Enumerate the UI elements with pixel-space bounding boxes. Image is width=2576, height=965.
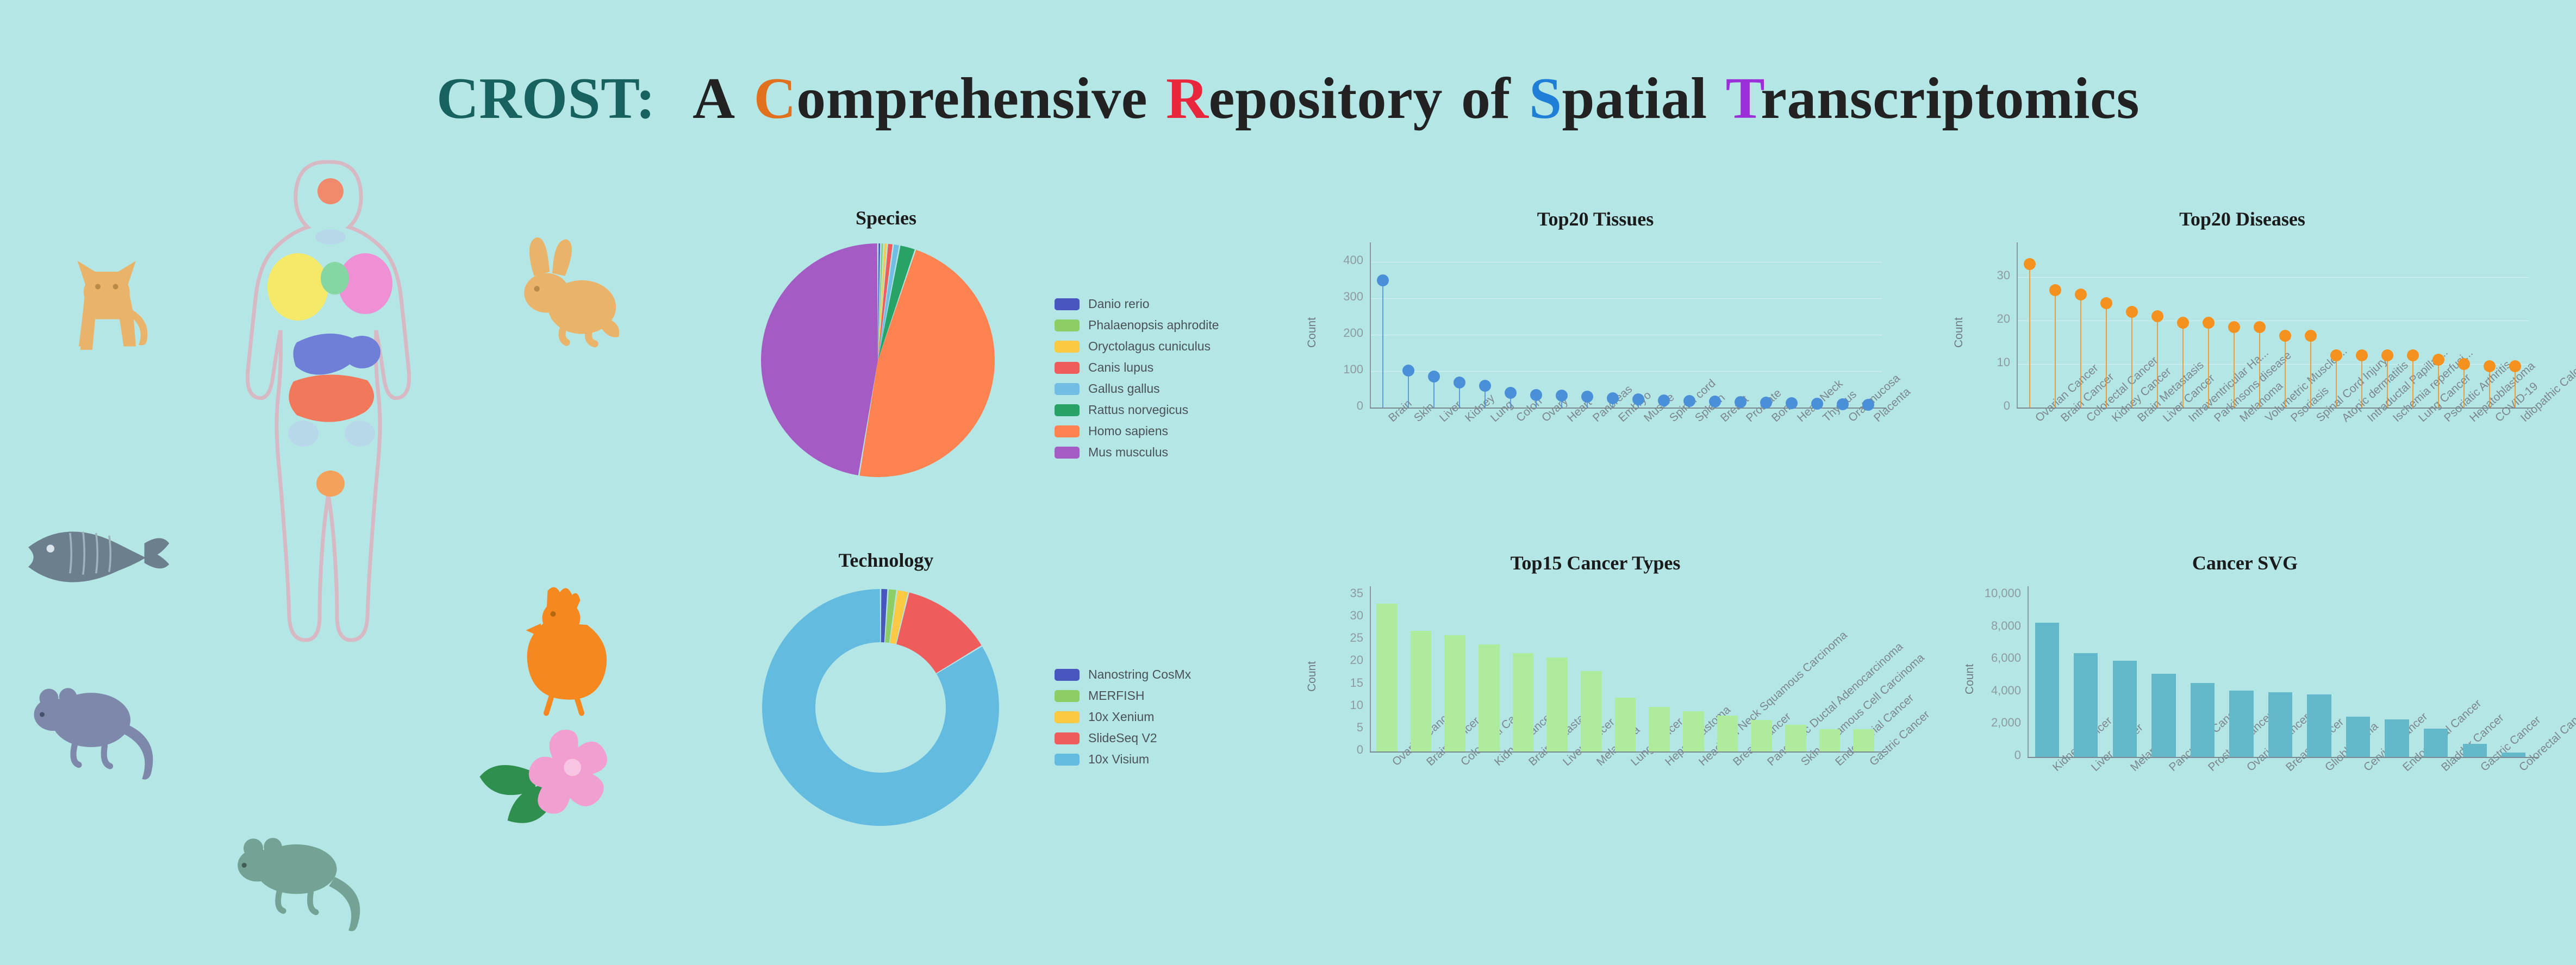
y-tick-label: 100 (1315, 362, 1363, 377)
legend-swatch-danio-rerio (1055, 298, 1080, 310)
tissues-lollipop-plot[interactable]: 0100200300400CountBrainSkinLiverKidneyLu… (1288, 239, 1903, 522)
legend-label: Homo sapiens (1088, 424, 1168, 438)
legend-label: Rattus norvegicus (1088, 403, 1188, 417)
y-tick-label: 0 (1973, 748, 2021, 762)
lollipop-dot[interactable] (2356, 349, 2368, 361)
legend-swatch-10x-visium (1055, 754, 1080, 766)
bar[interactable] (2463, 744, 2487, 757)
lollipop-dot[interactable] (1530, 389, 1542, 401)
species-legend: Danio rerio Phalaenopsis aphrodite Oryct… (1055, 297, 1219, 466)
bar[interactable] (1649, 707, 1670, 751)
lollipop-dot[interactable] (2203, 317, 2215, 329)
lollipop-dot[interactable] (2024, 258, 2036, 270)
title-brand: CROST (436, 66, 636, 131)
diseases-chart-title: Top20 Diseases (1935, 208, 2549, 230)
pie-slice-mus-musculus[interactable] (761, 243, 878, 475)
lollipop-stem (2361, 355, 2362, 408)
y-tick-label: 30 (1315, 609, 1363, 623)
bar[interactable] (2113, 661, 2137, 757)
technology-donut[interactable] (750, 581, 1033, 839)
legend-item[interactable]: 10x Xenium (1055, 710, 1191, 724)
y-tick-label: 0 (1315, 743, 1363, 757)
y-tick-label: 4,000 (1973, 684, 2021, 698)
chicken-icon (526, 587, 607, 713)
lollipop-dot[interactable] (2177, 317, 2189, 329)
y-tick-label: 30 (1962, 268, 2010, 283)
lollipop-stem (2182, 323, 2184, 408)
title-word-comprehensive: omprehensive (796, 66, 1147, 131)
legend-swatch-canis-lupus (1055, 362, 1080, 374)
lollipop-stem (2157, 316, 2158, 408)
lollipop-dot[interactable] (1837, 398, 1849, 410)
bar[interactable] (1444, 635, 1465, 751)
grid-line (1371, 335, 1882, 335)
lollipop-stem (2489, 366, 2490, 408)
lollipop-dot[interactable] (2509, 360, 2521, 372)
bar[interactable] (2502, 753, 2525, 757)
lollipop-stem (2310, 336, 2311, 408)
lollipop-stem (1382, 280, 1383, 408)
legend-item[interactable]: Canis lupus (1055, 360, 1219, 375)
pie-slice-homo-sapiens[interactable] (859, 250, 995, 477)
y-axis-line (2017, 242, 2018, 408)
y-tick-label: 400 (1315, 253, 1363, 267)
legend-swatch-mus-musculus (1055, 447, 1080, 459)
y-tick-label: 25 (1315, 631, 1363, 645)
y-tick-label: 10 (1962, 355, 2010, 369)
lollipop-stem (2515, 366, 2516, 408)
y-tick-label: 20 (1315, 653, 1363, 667)
legend-label: 10x Visium (1088, 752, 1149, 767)
lollipop-dot[interactable] (2151, 310, 2163, 322)
poster-root: CROST:AComprehensiveRepositoryofSpatialT… (0, 0, 2576, 965)
organ-stomach (344, 336, 381, 368)
lollipop-stem (2106, 303, 2107, 408)
title-colon: : (636, 66, 656, 131)
title-word-of: of (1461, 66, 1511, 131)
zebrafish-icon (28, 531, 169, 582)
y-axis-line (2028, 586, 2029, 757)
title-word-transcriptomics: ranscriptomics (1761, 66, 2140, 131)
title-letter-s: S (1529, 66, 1562, 131)
y-axis-title: Count (1963, 664, 1976, 694)
legend-item[interactable]: MERFISH (1055, 688, 1191, 703)
lollipop-dot[interactable] (2432, 354, 2444, 366)
human-body-icon (247, 162, 409, 640)
lollipop-stem (2387, 355, 2388, 408)
bar[interactable] (1785, 725, 1806, 751)
lollipop-dot[interactable] (2049, 284, 2061, 296)
legend-swatch-rattus-norvegicus (1055, 404, 1080, 416)
legend-item[interactable]: Homo sapiens (1055, 424, 1219, 438)
legend-swatch-homo-sapiens (1055, 425, 1080, 437)
lollipop-stem (2131, 312, 2132, 408)
rabbit-icon (524, 237, 619, 344)
title-word-a: A (693, 66, 735, 131)
bar[interactable] (1581, 671, 1602, 751)
y-tick-label: 5 (1315, 720, 1363, 735)
bar[interactable] (2307, 694, 2331, 757)
lollipop-dot[interactable] (1505, 387, 1517, 399)
lollipop-stem (2259, 327, 2260, 408)
y-tick-label: 300 (1315, 290, 1363, 304)
technology-chart-title: Technology (641, 549, 1131, 572)
legend-item[interactable]: Nanostring CosMx (1055, 667, 1191, 682)
legend-label: Danio rerio (1088, 297, 1150, 311)
grid-line (1371, 262, 1882, 262)
lollipop-dot[interactable] (1658, 394, 1670, 406)
y-tick-label: 10,000 (1973, 586, 2021, 600)
y-tick-label: 35 (1315, 586, 1363, 600)
lollipop-stem (2412, 355, 2413, 408)
organ-bladder (316, 471, 345, 497)
dog-icon (78, 261, 148, 350)
bar[interactable] (1615, 698, 1636, 751)
lollipop-dot[interactable] (1709, 396, 1721, 408)
lollipop-stem (2463, 364, 2465, 408)
species-pie[interactable] (750, 236, 1033, 489)
legend-item[interactable]: Phalaenopsis aphrodite (1055, 318, 1219, 333)
bar[interactable] (1479, 644, 1500, 751)
lollipop-dot[interactable] (1811, 398, 1823, 410)
lollipop-dot[interactable] (1377, 274, 1389, 286)
legend-label: SlideSeq V2 (1088, 731, 1157, 745)
legend-label: Nanostring CosMx (1088, 667, 1191, 682)
lollipop-dot[interactable] (2126, 306, 2138, 318)
legend-item[interactable]: Gallus gallus (1055, 381, 1219, 396)
title-letter-t: T (1726, 66, 1761, 131)
organ-kidney-left (288, 421, 319, 447)
legend-item[interactable]: Oryctolagus cuniculus (1055, 339, 1219, 354)
lollipop-dot[interactable] (1581, 391, 1593, 403)
title-letter-c: C (754, 66, 797, 131)
bar[interactable] (2424, 729, 2448, 757)
lollipop-dot[interactable] (2330, 349, 2342, 361)
lollipop-dot[interactable] (2407, 349, 2419, 361)
mouse-icon (238, 838, 360, 931)
lollipop-dot[interactable] (1735, 396, 1747, 408)
bar[interactable] (1546, 657, 1568, 751)
y-tick-label: 6,000 (1973, 651, 2021, 665)
lollipop-stem (2285, 336, 2286, 408)
page-title: CROST:AComprehensiveRepositoryofSpatialT… (0, 65, 2576, 133)
legend-label: Oryctolagus cuniculus (1088, 339, 1211, 354)
diseases-lollipop-plot[interactable]: 0102030CountOvarian CancerBrain CancerCo… (1935, 239, 2549, 522)
lollipop-dot[interactable] (2305, 330, 2317, 342)
bar[interactable] (2346, 717, 2370, 757)
bar[interactable] (1819, 729, 1841, 751)
lollipop-dot[interactable] (1479, 380, 1491, 392)
bar[interactable] (2151, 674, 2175, 757)
technology-legend: Nanostring CosMx MERFISH 10x Xenium Slid… (1055, 667, 1191, 773)
lollipop-stem (2336, 355, 2337, 408)
lollipop-dot[interactable] (2254, 321, 2266, 333)
organism-illustration (0, 136, 652, 951)
lollipop-stem (2055, 290, 2056, 408)
y-axis-title: Count (1306, 661, 1319, 692)
grid-line (1371, 298, 1882, 299)
legend-item[interactable]: Mus musculus (1055, 445, 1219, 460)
bar[interactable] (1717, 716, 1738, 751)
lollipop-dot[interactable] (1428, 371, 1440, 383)
cancer-svg-chart-title: Cancer SVG (1935, 552, 2555, 574)
legend-label: Mus musculus (1088, 445, 1168, 460)
legend-swatch-slideseq-v2 (1055, 732, 1080, 744)
legend-label: 10x Xenium (1088, 710, 1154, 724)
y-tick-label: 0 (1962, 399, 2010, 413)
chart-card-tissues: Top20 Tissues 0100200300400CountBrainSki… (1288, 208, 1903, 534)
lollipop-dot[interactable] (1862, 399, 1874, 411)
rat-icon (34, 688, 153, 779)
lollipop-dot[interactable] (1760, 397, 1772, 409)
lollipop-stem (2438, 360, 2439, 408)
y-tick-label: 8,000 (1973, 619, 2021, 633)
bar[interactable] (2191, 683, 2215, 757)
bar[interactable] (1683, 711, 1704, 751)
lollipop-dot[interactable] (2458, 358, 2470, 370)
lollipop-dot[interactable] (2381, 349, 2393, 361)
legend-label: Gallus gallus (1088, 381, 1160, 396)
legend-label: Phalaenopsis aphrodite (1088, 318, 1219, 333)
grid-line (2018, 277, 2529, 278)
lollipop-dot[interactable] (1683, 395, 1695, 407)
legend-swatch-phalaenopsis-aphrodite (1055, 319, 1080, 331)
lollipop-stem (2208, 323, 2209, 408)
lollipop-dot[interactable] (2484, 360, 2496, 372)
bar[interactable] (1376, 604, 1398, 751)
lollipop-dot[interactable] (1402, 365, 1414, 377)
chart-card-technology: Technology Nanostring CosMx MERFISH 10x … (641, 549, 1131, 875)
y-tick-label: 0 (1315, 399, 1363, 413)
chart-card-cancer-svg: Cancer SVG 02,0004,0006,0008,00010,000Co… (1935, 552, 2555, 899)
lollipop-dot[interactable] (2228, 321, 2240, 333)
y-tick-label: 20 (1962, 312, 2010, 326)
grid-line (2018, 321, 2529, 321)
bar[interactable] (2035, 623, 2059, 757)
bar[interactable] (1751, 720, 1772, 751)
organ-thyroid (315, 229, 346, 245)
organ-heart (321, 262, 349, 294)
legend-swatch-oryctolagus-cuniculus (1055, 341, 1080, 353)
legend-swatch-gallus-gallus (1055, 383, 1080, 395)
lollipop-dot[interactable] (2100, 297, 2112, 309)
organ-brain (317, 178, 344, 204)
tissues-chart-title: Top20 Tissues (1288, 208, 1903, 230)
bar[interactable] (2074, 653, 2098, 757)
species-chart-title: Species (641, 206, 1131, 229)
bar[interactable] (2385, 719, 2409, 757)
organ-kidney-right (345, 421, 375, 447)
bar[interactable] (1853, 729, 1874, 751)
lollipop-dot[interactable] (1786, 397, 1798, 409)
title-letter-r: R (1166, 66, 1209, 131)
legend-item[interactable]: Danio rerio (1055, 297, 1219, 311)
legend-item[interactable]: SlideSeq V2 (1055, 731, 1191, 745)
lollipop-dot[interactable] (2075, 289, 2087, 300)
organ-intestine (289, 374, 374, 422)
lollipop-dot[interactable] (1632, 393, 1644, 405)
lollipop-dot[interactable] (1556, 390, 1568, 402)
legend-swatch-nanostring-cosmx (1055, 669, 1080, 681)
x-tick-label: Gastric Cancer (1867, 708, 1932, 769)
bar[interactable] (1513, 653, 1534, 751)
cancer-types-bar-plot[interactable]: 05101520253035CountOvarian CancerBrain C… (1288, 583, 1903, 876)
legend-item[interactable]: Rattus norvegicus (1055, 403, 1219, 417)
title-word-repository: epository (1209, 66, 1443, 131)
lollipop-dot[interactable] (2279, 330, 2291, 342)
lollipop-dot[interactable] (1454, 377, 1465, 388)
lollipop-stem (2029, 264, 2030, 408)
y-tick-label: 2,000 (1973, 716, 2021, 730)
orchid-icon (479, 730, 607, 823)
chart-card-cancer-types: Top15 Cancer Types 05101520253035CountOv… (1288, 552, 1903, 888)
chart-card-diseases: Top20 Diseases 0102030CountOvarian Cance… (1935, 208, 2549, 534)
organ-lung-left (267, 253, 328, 321)
y-axis-title: Count (1306, 317, 1319, 348)
title-word-spatial: patial (1562, 66, 1707, 131)
y-tick-label: 10 (1315, 698, 1363, 712)
y-axis-line (1370, 242, 1371, 408)
x-tick-label: Liver (1437, 399, 1464, 425)
legend-swatch-10x-xenium (1055, 711, 1080, 723)
chart-card-species: Species Danio rerio Phalaenopsis aphrodi… (641, 206, 1131, 511)
lollipop-stem (2234, 327, 2235, 408)
legend-swatch-merfish (1055, 690, 1080, 702)
lollipop-stem (2080, 294, 2081, 408)
lollipop-dot[interactable] (1607, 392, 1619, 404)
cancer-svg-bar-plot[interactable]: 02,0004,0006,0008,00010,000CountKidney C… (1935, 583, 2555, 887)
x-tick-label: Brain (1386, 397, 1414, 425)
bar[interactable] (2268, 692, 2292, 757)
y-tick-label: 200 (1315, 326, 1363, 340)
y-tick-label: 15 (1315, 676, 1363, 690)
legend-label: MERFISH (1088, 688, 1145, 703)
y-axis-title: Count (1953, 317, 1966, 348)
bar[interactable] (2229, 691, 2253, 757)
y-axis-line (1370, 586, 1371, 751)
grid-line (1371, 371, 1882, 372)
legend-item[interactable]: 10x Visium (1055, 752, 1191, 767)
legend-label: Canis lupus (1088, 360, 1153, 375)
bar[interactable] (1411, 631, 1432, 751)
cancer-types-chart-title: Top15 Cancer Types (1288, 552, 1903, 574)
